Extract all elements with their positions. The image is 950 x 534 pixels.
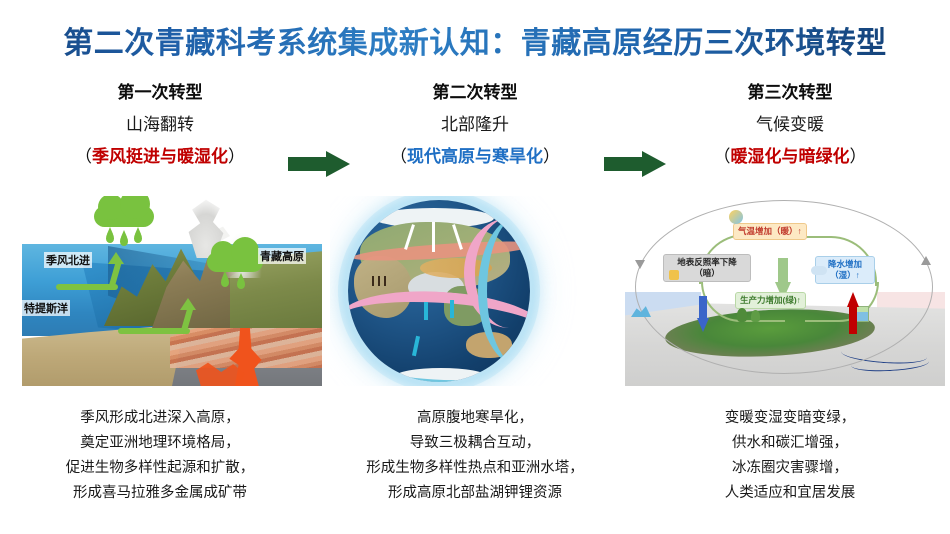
figure-earth-globe: [330, 196, 630, 386]
figure-tectonic-cross-section: 季风北进 特提斯洋 青藏高原: [22, 196, 322, 386]
column-1-subtitle: 山海翻转: [10, 110, 310, 140]
column-2-header: 第二次转型: [325, 80, 625, 106]
arrow-rise: [108, 260, 122, 290]
raindrop-icon: [134, 232, 142, 243]
tree-icon: [751, 310, 760, 322]
cryosphere-decrease-arrow-icon: [697, 296, 709, 332]
paren-open: （: [390, 147, 407, 166]
column-3-header: 第三次转型: [640, 80, 940, 106]
label-tibetan-plateau: 青藏高原: [258, 248, 306, 264]
arrow-shaft: [288, 157, 328, 171]
rain-cloud-icon-1: [94, 206, 154, 240]
slide-root: 第二次青藏科考系统集成新认知：青藏高原经历三次环境转型 第一次转型 山海翻转 （…: [0, 0, 950, 534]
rain-cloud-icon-2: [207, 252, 263, 284]
column-3-keyphrase-text: 暖湿化与暗绿化: [731, 147, 850, 166]
arrow-head: [326, 151, 350, 177]
paren-open: （: [75, 147, 92, 166]
column-3-keyphrase: （暖湿化与暗绿化）: [640, 142, 940, 172]
tree-icon: [737, 308, 747, 322]
cold-air-arrow-icon: [432, 222, 435, 252]
human-migration-icon: [372, 276, 390, 286]
moisture-arrow-icon: [424, 302, 428, 320]
label-monsoon-northward: 季风北进: [44, 252, 92, 268]
column-1-header: 第一次转型: [10, 80, 310, 106]
raindrop-icon: [106, 232, 114, 243]
arrow-rise: [180, 306, 193, 335]
transition-arrow-icon-1: [288, 151, 350, 177]
label-tethys-ocean: 特提斯洋: [22, 300, 70, 316]
arrow-head: [642, 151, 666, 177]
caption-line: 形成生物多样性热点和亚洲水塔，: [315, 456, 635, 481]
monsoon-arrow-icon-2: [118, 296, 214, 342]
caption-line: 导致三极耦合互动，: [315, 431, 635, 456]
loop-arrow-head-left: [635, 260, 645, 269]
rain-cloud-small-icon: [811, 266, 827, 275]
warming-increase-arrow-icon: [847, 292, 859, 334]
column-1-keyphrase-text: 季风挺进与暖湿化: [92, 147, 228, 166]
sunlight-icon: [669, 270, 679, 280]
transition-arrow-icon-2: [604, 151, 666, 177]
arrow-shaft: [604, 157, 644, 171]
caption-second-transition: 高原腹地寒旱化， 导致三极耦合互动， 形成生物多样性热点和亚洲水塔， 形成高原北…: [315, 406, 635, 506]
arrow-head: [697, 318, 709, 332]
column-third-transition: 第三次转型 气候变暖 （暖湿化与暗绿化）: [640, 80, 940, 172]
caption-line: 人类适应和宜居发展: [630, 481, 950, 506]
label-temperature-increase: 气温增加（暖）↑: [733, 223, 807, 240]
arrow-shaft: [699, 296, 707, 320]
loop-arrow-head-right: [921, 256, 931, 265]
column-2-subtitle: 北部隆升: [325, 110, 625, 140]
arrow-shaft: [849, 306, 857, 334]
arrow-head: [847, 292, 859, 307]
paren-close: ）: [850, 147, 867, 166]
paren-open: （: [714, 147, 731, 166]
column-second-transition: 第二次转型 北部隆升 （现代高原与寒旱化）: [325, 80, 625, 172]
paren-close: ）: [228, 147, 245, 166]
caption-line: 形成喜马拉雅多金属成矿带: [0, 481, 320, 506]
paren-close: ）: [543, 147, 560, 166]
caption-first-transition: 季风形成北进深入高原， 奠定亚洲地理环境格局， 促进生物多样性起源和扩散， 形成…: [0, 406, 320, 506]
caption-line: 促进生物多样性起源和扩散，: [0, 456, 320, 481]
caption-line: 冰冻圈灾害骤增，: [630, 456, 950, 481]
raindrop-icon: [237, 278, 245, 289]
column-2-keyphrase: （现代高原与寒旱化）: [325, 142, 625, 172]
caption-line: 形成高原北部盐湖钾锂资源: [315, 481, 635, 506]
arrow-head: [108, 252, 124, 264]
caption-line: 季风形成北进深入高原，: [0, 406, 320, 431]
column-first-transition: 第一次转型 山海翻转 （季风挺进与暖湿化）: [10, 80, 310, 172]
figure-warming-feedback-cycle: 气温增加（暖）↑ 地表反照率下降（暗） 降水增加（湿）↑ 生产力增加(绿)↑: [625, 196, 945, 386]
moisture-arrow-icon: [450, 300, 454, 318]
column-2-keyphrase-text: 现代高原与寒旱化: [407, 147, 543, 166]
cloud-puff: [231, 237, 259, 265]
caption-line: 供水和碳汇增强，: [630, 431, 950, 456]
column-3-subtitle: 气候变暖: [640, 110, 940, 140]
earth-globe-icon: [348, 200, 530, 382]
label-productivity-increase: 生产力增加(绿)↑: [735, 292, 806, 309]
caption-line: 高原腹地寒旱化，: [315, 406, 635, 431]
caption-line: 奠定亚洲地理环境格局，: [0, 431, 320, 456]
sun-earth-icon: [729, 210, 743, 224]
column-1-keyphrase: （季风挺进与暖湿化）: [10, 142, 310, 172]
cloud-body: [207, 252, 263, 272]
raindrop-icon: [120, 235, 128, 246]
arrow-shaft: [118, 328, 190, 334]
cloud-puff: [120, 196, 150, 219]
raindrop-icon: [221, 276, 229, 287]
caption-line: 变暖变湿变暗变绿，: [630, 406, 950, 431]
cloud-body: [94, 206, 154, 227]
arrow-head: [180, 298, 196, 310]
caption-third-transition: 变暖变湿变暗变绿， 供水和碳汇增强， 冰冻圈灾害骤增， 人类适应和宜居发展: [630, 406, 950, 506]
page-title: 第二次青藏科考系统集成新认知：青藏高原经历三次环境转型: [0, 18, 950, 62]
